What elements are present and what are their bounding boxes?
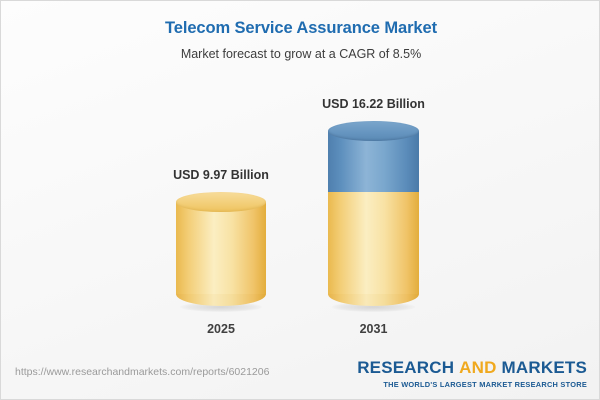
- bar-value-label-2031: USD 16.22 Billion: [322, 97, 425, 111]
- logo-wordmark: RESEARCH AND MARKETS: [357, 358, 587, 378]
- research-and-markets-logo[interactable]: RESEARCH AND MARKETS THE WORLD'S LARGEST…: [357, 358, 587, 389]
- logo-word-and: AND: [459, 358, 496, 377]
- bar-value-label-2025: USD 9.97 Billion: [173, 168, 269, 182]
- report-url[interactable]: https://www.researchandmarkets.com/repor…: [15, 366, 269, 378]
- logo-word-research: RESEARCH: [357, 358, 454, 377]
- bar-cylinder-2025: [176, 192, 266, 306]
- bar-category-label-2031: 2031: [360, 322, 388, 336]
- logo-word-markets: MARKETS: [502, 358, 587, 377]
- bar-group-2025: USD 9.97 Billion 2025: [176, 192, 266, 306]
- footer: https://www.researchandmarkets.com/repor…: [1, 349, 600, 399]
- chart-plot-area: USD 9.97 Billion 2025 USD 16.22 Billion …: [1, 1, 600, 351]
- bar-category-label-2025: 2025: [207, 322, 235, 336]
- bar-group-2031: USD 16.22 Billion 2031: [328, 121, 419, 306]
- bar-cylinder-2031: [328, 121, 419, 306]
- infographic-card: Telecom Service Assurance Market Market …: [0, 0, 600, 400]
- logo-tagline: THE WORLD'S LARGEST MARKET RESEARCH STOR…: [357, 380, 587, 389]
